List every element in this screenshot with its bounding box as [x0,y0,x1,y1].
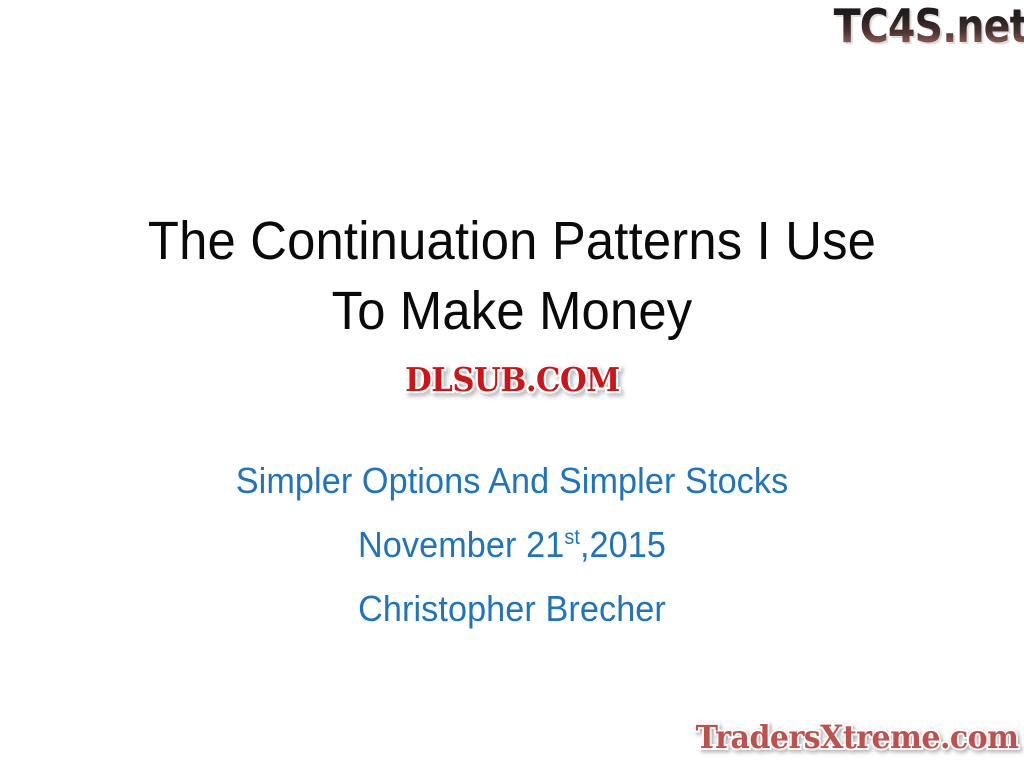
title-line-1: The Continuation Patterns I Use [31,206,994,276]
subtitle-presenter: Christopher Brecher [26,577,999,641]
subtitle-date-prefix: November 21 [358,524,564,565]
page-title: The Continuation Patterns I Use To Make … [0,206,1024,346]
presentation-slide: TC4S.net TC4S.net The Continuation Patte… [0,0,1024,768]
watermark-tc4s-text: TC4S.net [834,2,1024,50]
watermark-tradersxtreme-text: TradersXtreme.com [695,718,1018,756]
subtitle-date: November 21st,2015 [26,513,999,577]
subtitle-date-suffix: ,2015 [580,524,666,565]
watermark-dlsub: DLSUB.COM [0,361,1024,405]
subtitle-organization: Simpler Options And Simpler Stocks [26,449,999,513]
watermark-dlsub-text: DLSUB.COM [405,361,620,399]
subtitle-date-ordinal: st [564,526,580,549]
watermark-tradersxtreme: TradersXtreme.com [675,718,1018,762]
subtitle-block: Simpler Options And Simpler Stocks Novem… [0,449,1024,641]
title-line-2: To Make Money [31,276,994,346]
